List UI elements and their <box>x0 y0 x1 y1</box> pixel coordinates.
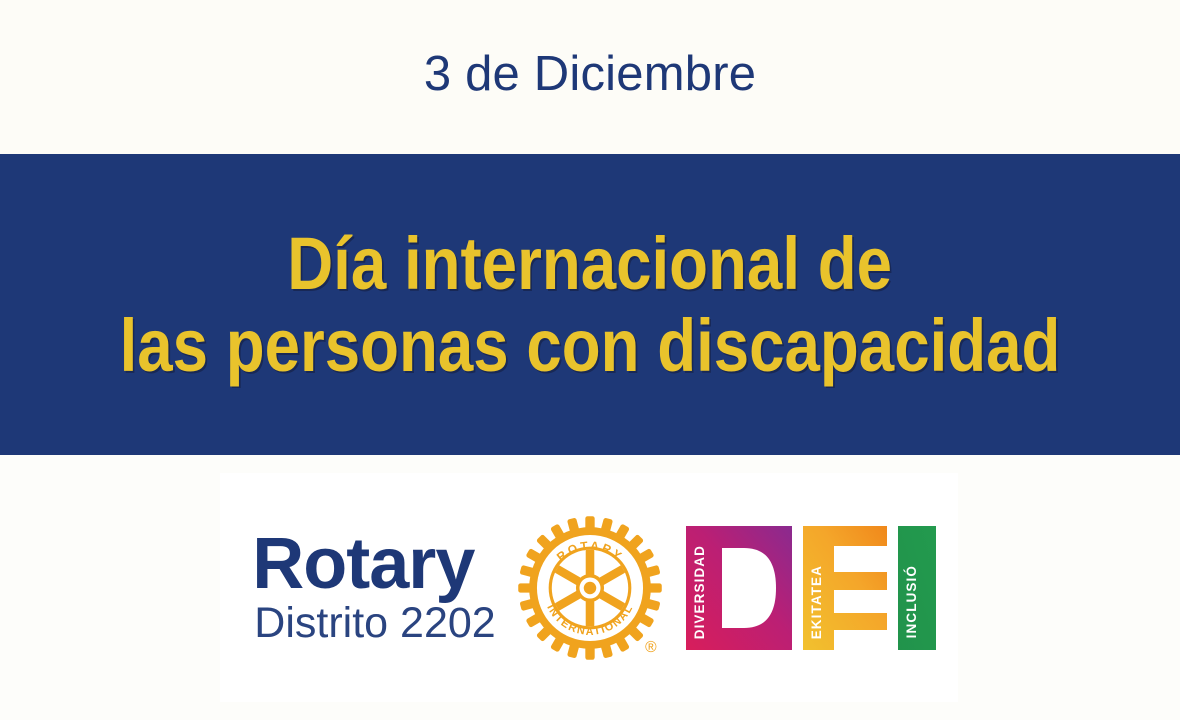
registered-trademark-icon: ® <box>645 638 657 655</box>
banner-title-line-2: las personas con discapacidad <box>120 308 1061 383</box>
dei-letter-e: EKITATEA <box>803 526 887 650</box>
banner-title-line-1: Día internacional de <box>288 226 893 301</box>
rotary-wordmark: Rotary Distrito 2202 <box>252 529 495 647</box>
rotary-wheel-icon: ROTARY INTERNATIONAL ® <box>512 510 668 666</box>
dei-logo: DIVERSIDAD <box>686 526 936 650</box>
event-date: 3 de Diciembre <box>424 50 756 105</box>
dei-letter-d: DIVERSIDAD <box>686 526 792 650</box>
logo-row: Rotary Distrito 2202 <box>242 510 935 666</box>
dei-label-ekitatea: EKITATEA <box>810 565 824 639</box>
poster-root: 3 de Diciembre Día internacional de las … <box>0 0 1180 720</box>
dei-letter-i: INCLUSIÓ <box>898 526 936 650</box>
rotary-brand-name: Rotary <box>252 529 474 600</box>
date-strip: 3 de Diciembre <box>0 0 1180 154</box>
rotary-district-label: Distrito 2202 <box>252 601 495 646</box>
dei-label-inclusio: INCLUSIÓ <box>905 565 919 638</box>
dei-label-diversidad: DIVERSIDAD <box>693 545 707 639</box>
title-banner: Día internacional de las personas con di… <box>0 154 1180 455</box>
logo-card: Rotary Distrito 2202 <box>220 473 958 702</box>
